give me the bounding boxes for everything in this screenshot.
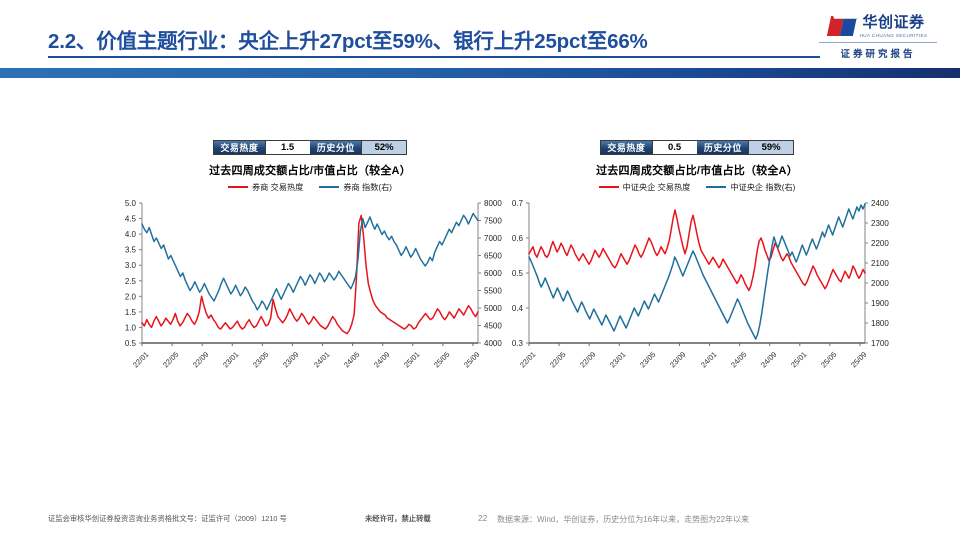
chart-title: 过去四周成交额占比/市值占比（较全A）: [497, 162, 897, 178]
brand-subtitle: 证券研究报告: [814, 46, 942, 60]
plot-area: 0.51.01.52.02.53.03.54.04.55.04000450050…: [110, 197, 510, 362]
brand-logo: 华创证券 HUA CHUANG SECURITIES 证券研究报告: [814, 14, 942, 60]
legend-item-index: 中证央企 指数(右): [706, 181, 795, 193]
svg-text:0.6: 0.6: [512, 234, 524, 243]
header-blue-bar: [0, 68, 960, 78]
metric-badge: 交易热度 0.5 历史分位 59%: [600, 140, 794, 155]
chart-panel-brokerage: 交易热度 1.5 历史分位 52% 过去四周成交额占比/市值占比（较全A） 券商…: [110, 140, 510, 390]
brand-name: 华创证券: [862, 14, 924, 31]
legend-label-index: 中证央企 指数(右): [730, 181, 795, 193]
legend-swatch-red: [599, 186, 619, 188]
legend-label-index: 券商 指数(右): [343, 181, 392, 193]
x-axis-labels: 22/0122/0522/0923/0123/0523/0924/0124/05…: [110, 362, 510, 402]
slide-header: 2.2、价值主题行业：央企上升27pct至59%、银行上升25pct至66% 华…: [0, 0, 960, 78]
line-chart-svg: 0.51.01.52.02.53.03.54.04.55.04000450050…: [110, 197, 510, 362]
title-underline: [48, 56, 820, 58]
svg-text:0.3: 0.3: [512, 339, 524, 348]
svg-text:1.0: 1.0: [125, 323, 137, 332]
brand-divider: [819, 42, 937, 43]
svg-text:1900: 1900: [871, 299, 889, 308]
legend-swatch-blue: [319, 186, 339, 188]
badge-value-heat: 1.5: [266, 141, 310, 154]
svg-text:2000: 2000: [871, 279, 889, 288]
svg-text:2.0: 2.0: [125, 292, 137, 301]
legend-swatch-blue: [706, 186, 726, 188]
plot-area: 0.30.40.50.60.71700180019002000210022002…: [497, 197, 897, 362]
page-number: 22: [478, 513, 487, 523]
line-chart-svg: 0.30.40.50.60.71700180019002000210022002…: [497, 197, 897, 362]
svg-text:0.5: 0.5: [512, 269, 524, 278]
svg-text:1700: 1700: [871, 339, 889, 348]
svg-text:4.0: 4.0: [125, 230, 137, 239]
metric-badge: 交易热度 1.5 历史分位 52%: [213, 140, 407, 155]
svg-text:0.5: 0.5: [125, 339, 137, 348]
chart-title: 过去四周成交额占比/市值占比（较全A）: [110, 162, 510, 178]
logo-cube-icon: [826, 16, 856, 36]
chart-legend: 券商 交易热度 券商 指数(右): [110, 181, 510, 193]
svg-text:1.5: 1.5: [125, 308, 137, 317]
legend-swatch-red: [228, 186, 248, 188]
legend-label-heat: 中证央企 交易热度: [623, 181, 691, 193]
brand-name-en: HUA CHUANG SECURITIES: [860, 33, 928, 38]
svg-text:2300: 2300: [871, 219, 889, 228]
chart-legend: 中证央企 交易热度 中证央企 指数(右): [497, 181, 897, 193]
badge-value-heat: 0.5: [653, 141, 697, 154]
legend-item-index: 券商 指数(右): [319, 181, 392, 193]
footer-source: 数据来源：Wind，华创证券，历史分位为16年以来，走势图为22年以来: [497, 514, 749, 525]
svg-text:2400: 2400: [871, 199, 889, 208]
badge-value-percentile: 52%: [362, 141, 406, 154]
page-title: 2.2、价值主题行业：央企上升27pct至59%、银行上升25pct至66%: [48, 24, 808, 54]
svg-text:0.7: 0.7: [512, 199, 524, 208]
badge-label-heat: 交易热度: [214, 141, 265, 154]
svg-text:3.5: 3.5: [125, 246, 137, 255]
badge-value-percentile: 59%: [749, 141, 793, 154]
svg-text:0.4: 0.4: [512, 304, 524, 313]
legend-label-heat: 券商 交易热度: [252, 181, 303, 193]
svg-text:1800: 1800: [871, 319, 889, 328]
svg-text:4.5: 4.5: [125, 215, 137, 224]
svg-text:3.0: 3.0: [125, 261, 137, 270]
legend-item-heat: 券商 交易热度: [228, 181, 303, 193]
chart-panel-soe: 交易热度 0.5 历史分位 59% 过去四周成交额占比/市值占比（较全A） 中证…: [497, 140, 897, 390]
badge-label-percentile: 历史分位: [310, 141, 361, 154]
x-axis-labels: 22/0122/0522/0923/0123/0523/0924/0124/05…: [497, 362, 897, 402]
svg-text:5.0: 5.0: [125, 199, 137, 208]
slide-footer: 证监会审核华创证券投资咨询业务资格批文号：证监许可（2009）1210 号 未经…: [0, 500, 960, 540]
badge-label-heat: 交易热度: [601, 141, 652, 154]
svg-text:2100: 2100: [871, 259, 889, 268]
svg-text:2200: 2200: [871, 239, 889, 248]
footer-notice: 未经许可，禁止转载: [365, 514, 431, 524]
footer-disclaimer: 证监会审核华创证券投资咨询业务资格批文号：证监许可（2009）1210 号: [48, 514, 287, 524]
legend-item-heat: 中证央企 交易热度: [599, 181, 691, 193]
svg-text:2.5: 2.5: [125, 277, 137, 286]
badge-label-percentile: 历史分位: [697, 141, 748, 154]
